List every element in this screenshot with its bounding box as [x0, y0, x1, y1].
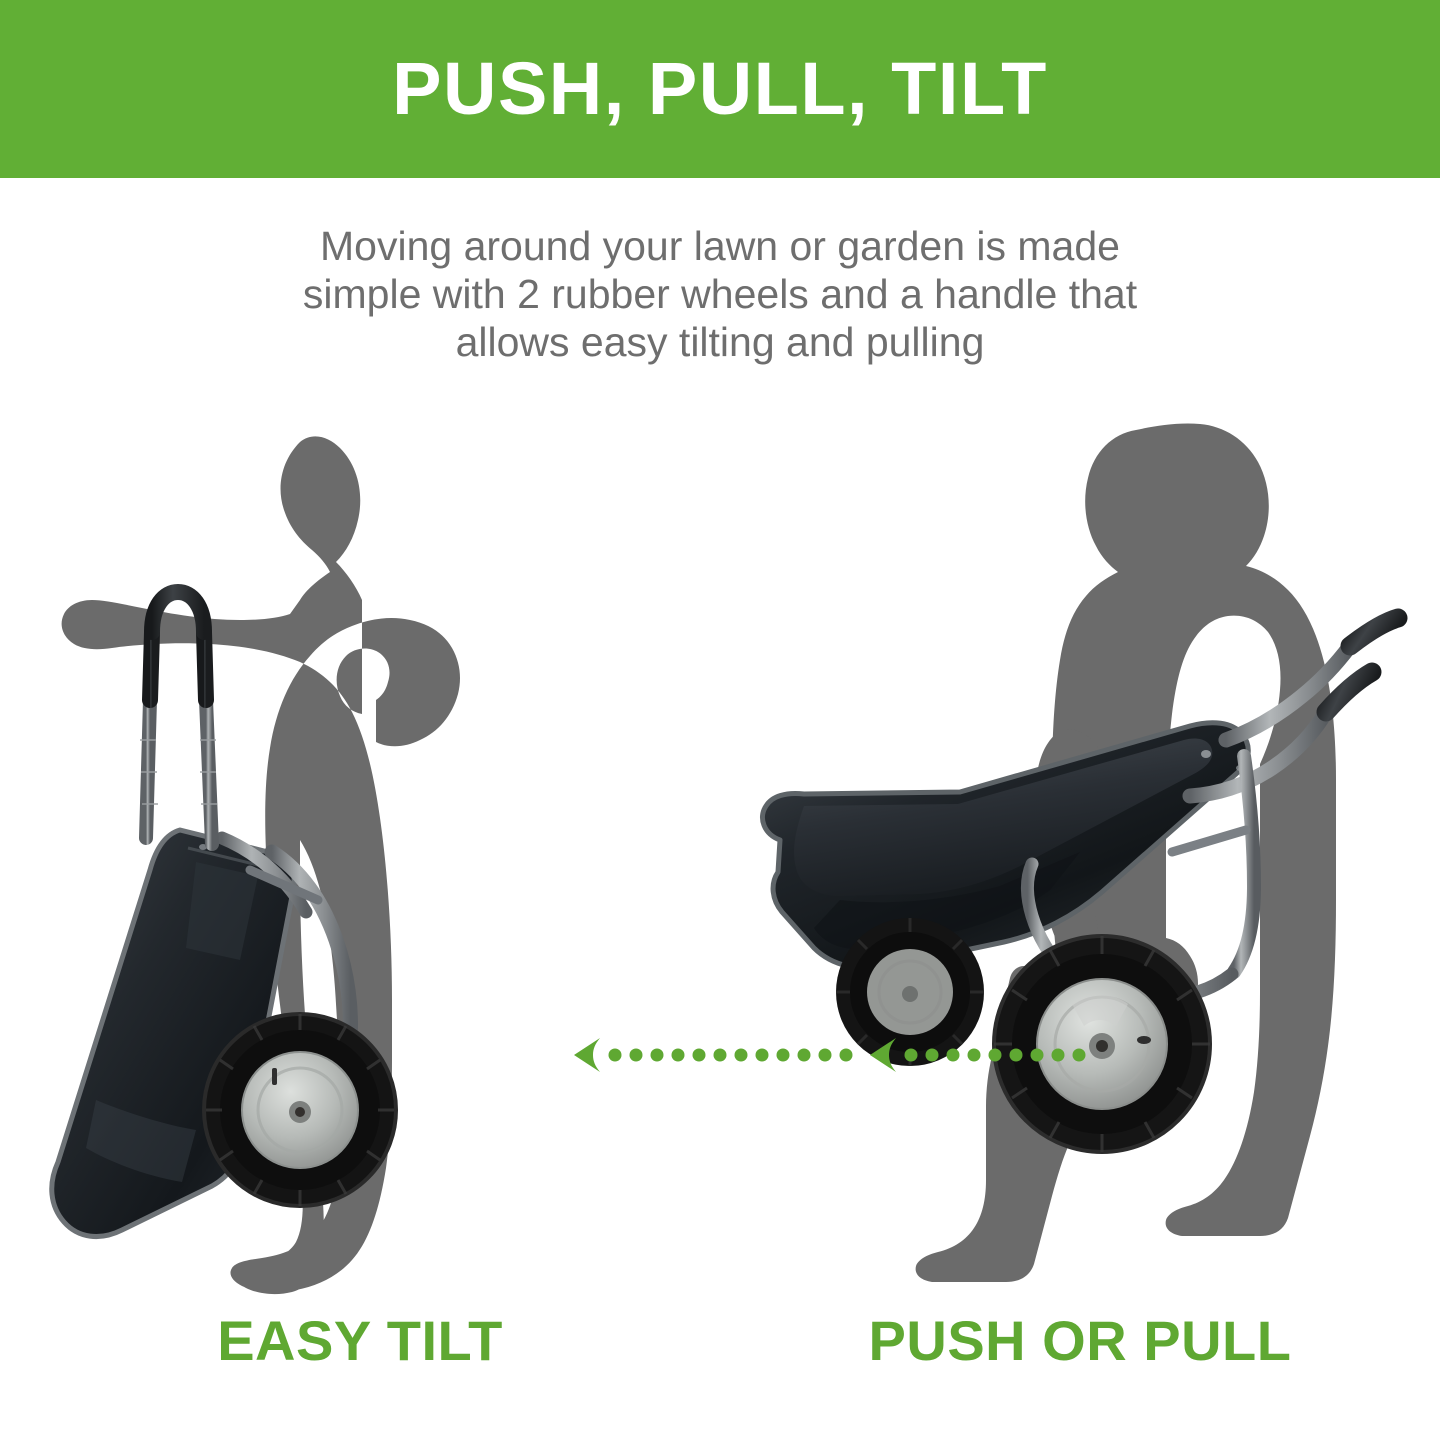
wheelbarrow-tray-level — [762, 723, 1248, 969]
wheelbarrow-wheel-left — [204, 1014, 396, 1206]
arrow-group-2 — [870, 1038, 1086, 1072]
caption-cell-right: PUSH OR PULL — [720, 1308, 1440, 1398]
header-banner: PUSH, PULL, TILT — [0, 0, 1440, 178]
subtitle-line-1: Moving around your lawn or garden is mad… — [0, 222, 1440, 270]
easy-tilt-illustration — [0, 400, 720, 1300]
subtitle-line-3: allows easy tilting and pulling — [0, 318, 1440, 366]
arrow-group-1 — [574, 1038, 853, 1072]
push-or-pull-illustration — [720, 400, 1440, 1300]
arrowhead-left-2 — [870, 1038, 896, 1072]
panel-easy-tilt — [0, 400, 720, 1300]
illustration-stage — [0, 400, 1440, 1300]
subtitle-block: Moving around your lawn or garden is mad… — [0, 222, 1440, 366]
motion-direction-arrows — [570, 1034, 1100, 1076]
arrowhead-left-1 — [574, 1038, 600, 1072]
caption-easy-tilt: EASY TILT — [217, 1309, 503, 1372]
page-title: PUSH, PULL, TILT — [392, 52, 1048, 126]
caption-cell-left: EASY TILT — [0, 1308, 720, 1398]
caption-row: EASY TILT PUSH OR PULL — [0, 1308, 1440, 1398]
caption-push-or-pull: PUSH OR PULL — [869, 1309, 1292, 1372]
subtitle-line-2: simple with 2 rubber wheels and a handle… — [0, 270, 1440, 318]
panel-push-or-pull — [720, 400, 1440, 1300]
